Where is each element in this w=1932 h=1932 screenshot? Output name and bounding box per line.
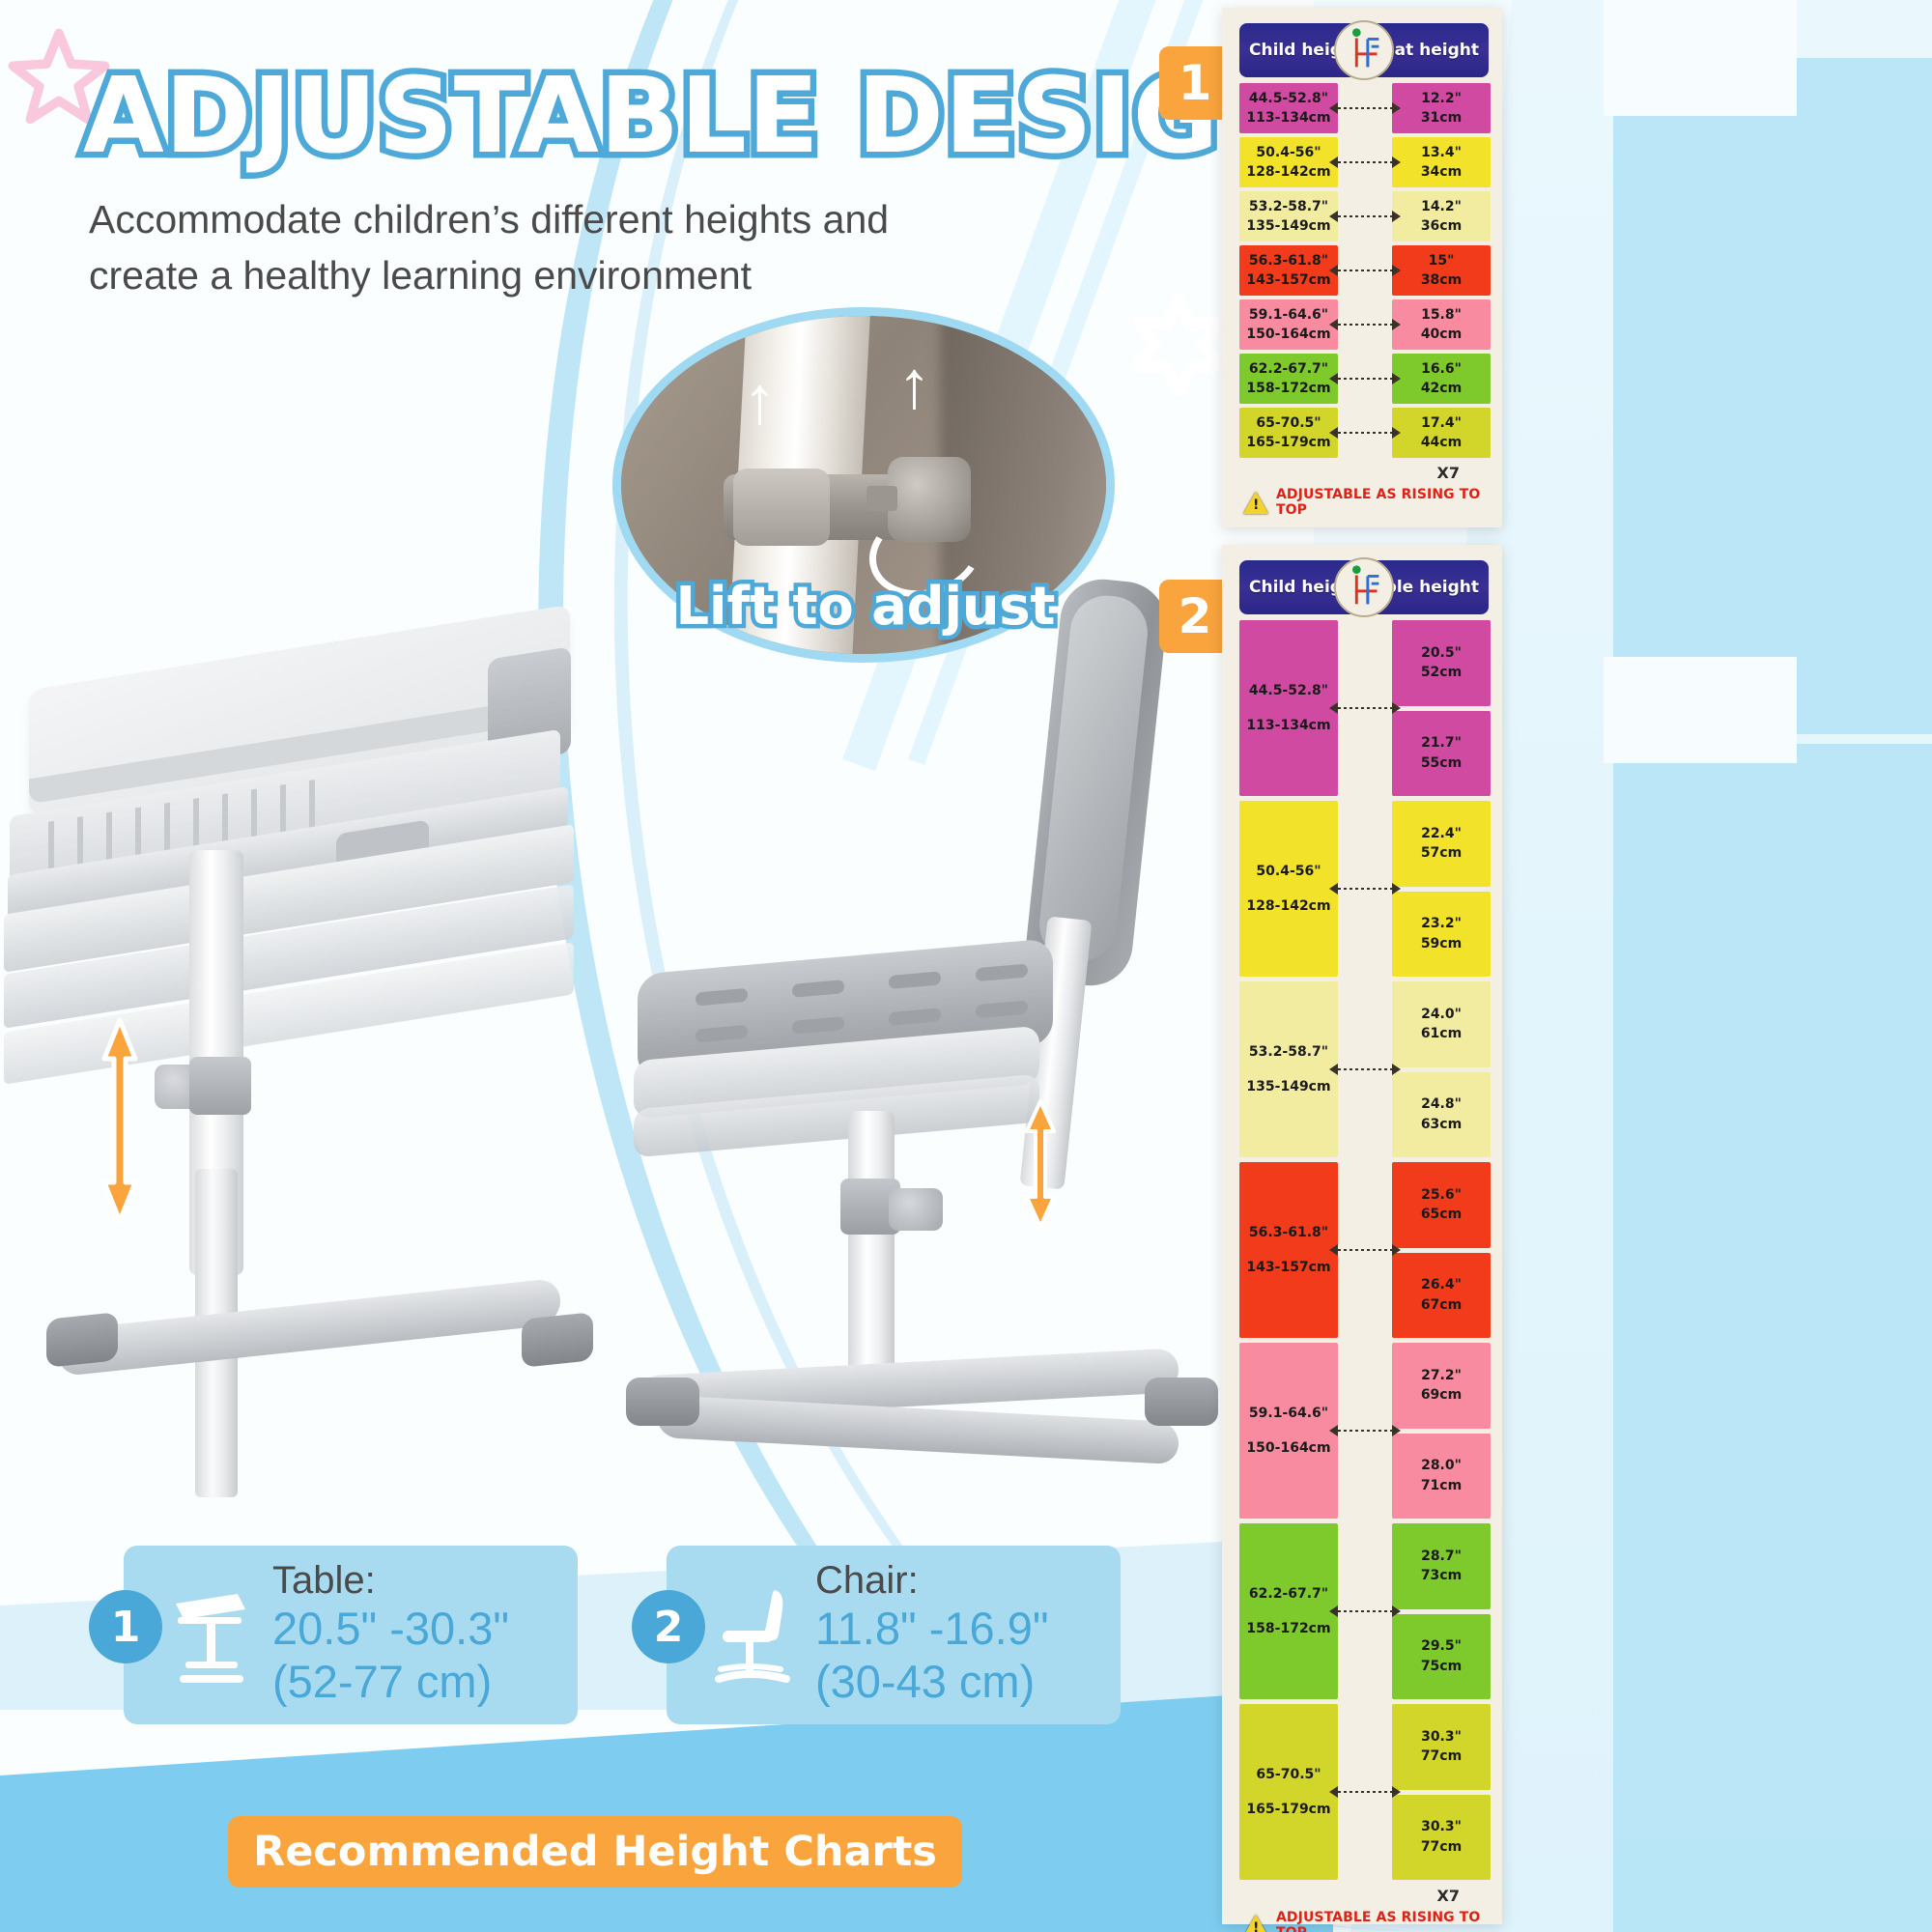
seat-height-cell: 15"38cm [1392, 245, 1491, 296]
seat-height-cm: 40cm [1421, 325, 1462, 344]
table-height-cell: 27.2"69cm [1392, 1343, 1491, 1429]
table-height-inches: 26.4" [1421, 1275, 1462, 1294]
child-height-cm: 165-179cm [1246, 1800, 1330, 1819]
child-height-inches: 44.5-52.8" [1249, 681, 1328, 700]
child-height-inches: 56.3-61.8" [1249, 1223, 1328, 1242]
seat-height-cm: 31cm [1421, 108, 1462, 128]
child-height-cm: 158-172cm [1246, 1619, 1330, 1638]
child-height-inches: 65-70.5" [1256, 1765, 1321, 1784]
table-value-cm: (52-77 cm) [272, 1655, 582, 1708]
seat-height-inches: 17.4" [1421, 413, 1462, 433]
seat-height-inches: 15" [1429, 251, 1455, 270]
table-height-cm: 77cm [1421, 1837, 1462, 1857]
table-height-inches: 22.4" [1421, 824, 1462, 843]
child-height-inches: 53.2-58.7" [1249, 197, 1328, 216]
table-chart-multiplier: X7 [1437, 1887, 1460, 1905]
child-height-cm: 128-142cm [1246, 162, 1330, 182]
dimension-arrow-icon [1338, 1523, 1392, 1699]
chair-value-inches: 11.8" -16.9" [815, 1602, 1124, 1655]
dimension-arrow-icon [1338, 299, 1392, 350]
child-height-cm: 143-157cm [1246, 1258, 1330, 1277]
child-height-inches: 62.2-67.7" [1249, 1584, 1328, 1604]
child-height-cm: 165-179cm [1246, 433, 1330, 452]
chair-icon [711, 1580, 800, 1689]
child-height-inches: 56.3-61.8" [1249, 251, 1328, 270]
dimension-arrow-icon [1338, 354, 1392, 404]
chair-illustration [618, 570, 1217, 1536]
seat-chart-multiplier: X7 [1437, 464, 1460, 482]
child-sitting-icon [1334, 557, 1394, 617]
seat-height-cm: 38cm [1421, 270, 1462, 290]
seat-height-cell: 13.4"34cm [1392, 137, 1491, 187]
child-height-cell: 62.2-67.7"158-172cm [1239, 354, 1338, 404]
seat-height-cm: 34cm [1421, 162, 1462, 182]
seat-height-cell: 16.6"42cm [1392, 354, 1491, 404]
table-row: 44.5-52.8"113-134cm20.5"52cm21.7"55cm [1239, 620, 1489, 796]
table-chart-warning: ADJUSTABLE AS RISING TO TOP [1243, 1910, 1492, 1932]
table-height-cell-group: 25.6"65cm26.4"67cm [1392, 1162, 1491, 1338]
seat-chart-header: Child height Seat height [1239, 23, 1489, 77]
seat-height-cell: 14.2"36cm [1392, 191, 1491, 241]
child-height-inches: 65-70.5" [1256, 413, 1321, 433]
table-height-cm: 67cm [1421, 1295, 1462, 1315]
table-height-inches: 30.3" [1421, 1817, 1462, 1836]
chair-spec-callout: 2 Chair: 11.8" -16.9" (30-43 cm) [667, 1546, 1121, 1724]
chair-label: Chair: [815, 1559, 1124, 1602]
child-height-cm: 135-149cm [1246, 1077, 1330, 1096]
child-height-cm: 158-172cm [1246, 379, 1330, 398]
seat-height-cell: 15.8"40cm [1392, 299, 1491, 350]
table-height-cell-group: 28.7"73cm29.5"75cm [1392, 1523, 1491, 1699]
table-row: 59.1-64.6"150-164cm27.2"69cm28.0"71cm [1239, 1343, 1489, 1519]
table-height-cell-group: 27.2"69cm28.0"71cm [1392, 1343, 1491, 1519]
seat-height-inches: 14.2" [1421, 197, 1462, 216]
child-sitting-icon [1334, 20, 1394, 80]
table-height-cell: 25.6"65cm [1392, 1162, 1491, 1248]
table-height-inches: 27.2" [1421, 1366, 1462, 1385]
table-height-inches: 28.0" [1421, 1456, 1462, 1475]
table-row: 65-70.5"165-179cm17.4"44cm [1239, 408, 1489, 458]
table-height-cell: 20.5"52cm [1392, 620, 1491, 706]
table-height-cell-group: 30.3"77cm30.3"77cm [1392, 1704, 1491, 1880]
child-height-cell: 44.5-52.8"113-134cm [1239, 83, 1338, 133]
table-row: 65-70.5"165-179cm30.3"77cm30.3"77cm [1239, 1704, 1489, 1880]
child-height-cm: 143-157cm [1246, 270, 1330, 290]
table-row: 44.5-52.8"113-134cm12.2"31cm [1239, 83, 1489, 133]
arrow-up-icon: ↑ [743, 366, 777, 434]
seat-chart-warning: ADJUSTABLE AS RISING TO TOP [1243, 487, 1492, 518]
seat-height-chart-card: Child height Seat height 44.5-52.8"113-1… [1222, 8, 1502, 527]
child-height-inches: 59.1-64.6" [1249, 1404, 1328, 1423]
table-height-cm: 61cm [1421, 1024, 1462, 1043]
warning-triangle-icon [1243, 492, 1268, 514]
table-row: 59.1-64.6"150-164cm15.8"40cm [1239, 299, 1489, 350]
seat-height-inches: 15.8" [1421, 305, 1462, 325]
dimension-arrow-icon [1338, 981, 1392, 1157]
table-value-inches: 20.5" -30.3" [272, 1602, 582, 1655]
child-height-cell: 65-70.5"165-179cm [1239, 408, 1338, 458]
child-height-cm: 150-164cm [1246, 325, 1330, 344]
dimension-arrow-icon [1338, 801, 1392, 977]
warning-triangle-icon [1243, 1915, 1268, 1932]
table-height-cm: 63cm [1421, 1115, 1462, 1134]
child-height-inches: 44.5-52.8" [1249, 89, 1328, 108]
table-height-cell: 30.3"77cm [1392, 1795, 1491, 1881]
seat-height-inches: 12.2" [1421, 89, 1462, 108]
desk-icon [168, 1580, 257, 1689]
table-height-cell: 24.0"61cm [1392, 981, 1491, 1067]
child-height-inches: 50.4-56" [1256, 143, 1321, 162]
seat-height-inches: 16.6" [1421, 359, 1462, 379]
arrow-up-icon: ↑ [897, 351, 931, 418]
seat-height-cell: 12.2"31cm [1392, 83, 1491, 133]
seat-height-cm: 42cm [1421, 379, 1462, 398]
dimension-arrow-icon [1338, 620, 1392, 796]
seat-height-cm: 36cm [1421, 216, 1462, 236]
dimension-arrow-icon [1338, 83, 1392, 133]
table-height-cm: 75cm [1421, 1657, 1462, 1676]
table-height-cm: 52cm [1421, 663, 1462, 682]
table-height-cell: 30.3"77cm [1392, 1704, 1491, 1790]
table-height-cm: 71cm [1421, 1476, 1462, 1495]
child-height-cell: 44.5-52.8"113-134cm [1239, 620, 1338, 796]
callout-badge-1: 1 [89, 1590, 162, 1663]
chart-number-tab-1: 1 [1159, 46, 1231, 120]
table-height-inches: 24.0" [1421, 1005, 1462, 1024]
child-height-cm: 150-164cm [1246, 1438, 1330, 1458]
table-height-inches: 21.7" [1421, 733, 1462, 753]
table-height-inches: 30.3" [1421, 1727, 1462, 1747]
seat-height-cm: 44cm [1421, 433, 1462, 452]
table-height-cell: 28.7"73cm [1392, 1523, 1491, 1609]
table-height-cell-group: 24.0"61cm24.8"63cm [1392, 981, 1491, 1157]
seat-height-inches: 13.4" [1421, 143, 1462, 162]
child-height-cell: 53.2-58.7"135-149cm [1239, 981, 1338, 1157]
table-height-cell: 28.0"71cm [1392, 1434, 1491, 1520]
table-row: 56.3-61.8"143-157cm25.6"65cm26.4"67cm [1239, 1162, 1489, 1338]
recommended-height-charts-ribbon: Recommended Height Charts [228, 1816, 962, 1888]
table-height-cm: 65cm [1421, 1205, 1462, 1224]
child-height-inches: 59.1-64.6" [1249, 305, 1328, 325]
dimension-arrow-icon [1338, 191, 1392, 241]
up-down-arrow-icon [1024, 1096, 1057, 1232]
child-height-cell: 50.4-56"128-142cm [1239, 801, 1338, 977]
dimension-arrow-icon [1338, 1343, 1392, 1519]
chart-number-tab-2: 2 [1159, 580, 1231, 653]
table-height-cm: 59cm [1421, 934, 1462, 953]
child-height-cell: 62.2-67.7"158-172cm [1239, 1523, 1338, 1699]
table-height-cm: 77cm [1421, 1747, 1462, 1766]
table-row: 50.4-56"128-142cm13.4"34cm [1239, 137, 1489, 187]
child-height-cell: 56.3-61.8"143-157cm [1239, 1162, 1338, 1338]
table-height-cell-group: 20.5"52cm21.7"55cm [1392, 620, 1491, 796]
child-height-cell: 59.1-64.6"150-164cm [1239, 299, 1338, 350]
child-height-cm: 113-134cm [1246, 108, 1330, 128]
table-height-inches: 25.6" [1421, 1185, 1462, 1205]
table-row: 56.3-61.8"143-157cm15"38cm [1239, 245, 1489, 296]
table-spec-callout: 1 Table: 20.5" -30.3" (52-77 cm) [124, 1546, 578, 1724]
callout-badge-2: 2 [632, 1590, 705, 1663]
table-height-inches: 24.8" [1421, 1094, 1462, 1114]
child-height-inches: 53.2-58.7" [1249, 1042, 1328, 1062]
table-row: 50.4-56"128-142cm22.4"57cm23.2"59cm [1239, 801, 1489, 977]
table-height-cm: 55cm [1421, 753, 1462, 773]
table-height-cell: 21.7"55cm [1392, 711, 1491, 797]
table-label: Table: [272, 1559, 582, 1602]
child-height-cell: 56.3-61.8"143-157cm [1239, 245, 1338, 296]
child-height-cm: 128-142cm [1246, 896, 1330, 916]
adjust-knob-icon [889, 1188, 943, 1231]
table-row: 62.2-67.7"158-172cm16.6"42cm [1239, 354, 1489, 404]
table-height-cell-group: 22.4"57cm23.2"59cm [1392, 801, 1491, 977]
desk-illustration [0, 628, 618, 1478]
flower-icon [1125, 290, 1232, 396]
table-height-cell: 23.2"59cm [1392, 892, 1491, 978]
seat-height-cell: 17.4"44cm [1392, 408, 1491, 458]
seat-chart-warning-text: ADJUSTABLE AS RISING TO TOP [1276, 487, 1492, 518]
chair-value-cm: (30-43 cm) [815, 1655, 1124, 1708]
table-height-cell: 22.4"57cm [1392, 801, 1491, 887]
dimension-arrow-icon [1338, 245, 1392, 296]
table-chart-rows: 44.5-52.8"113-134cm20.5"52cm21.7"55cm50.… [1239, 620, 1489, 1880]
table-row: 53.2-58.7"135-149cm14.2"36cm [1239, 191, 1489, 241]
table-height-cell: 29.5"75cm [1392, 1614, 1491, 1700]
table-row: 62.2-67.7"158-172cm28.7"73cm29.5"75cm [1239, 1523, 1489, 1699]
child-height-inches: 62.2-67.7" [1249, 359, 1328, 379]
table-height-cell: 24.8"63cm [1392, 1072, 1491, 1158]
child-height-cell: 65-70.5"165-179cm [1239, 1704, 1338, 1880]
dimension-arrow-icon [1338, 137, 1392, 187]
child-height-inches: 50.4-56" [1256, 862, 1321, 881]
page-title: ADJUSTABLE DESIGN [83, 56, 1308, 177]
page-subtitle: Accommodate children’s different heights… [89, 191, 987, 303]
table-height-chart-card: Child height Table height 44.5-52.8"113-… [1222, 545, 1502, 1924]
table-height-cm: 57cm [1421, 843, 1462, 863]
child-height-cell: 53.2-58.7"135-149cm [1239, 191, 1338, 241]
seat-chart-rows: 44.5-52.8"113-134cm12.2"31cm50.4-56"128-… [1239, 83, 1489, 458]
table-height-cell: 26.4"67cm [1392, 1253, 1491, 1339]
child-height-cm: 113-134cm [1246, 716, 1330, 735]
table-height-cm: 73cm [1421, 1566, 1462, 1585]
child-height-cell: 59.1-64.6"150-164cm [1239, 1343, 1338, 1519]
table-height-inches: 28.7" [1421, 1547, 1462, 1566]
dimension-arrow-icon [1338, 1162, 1392, 1338]
dimension-arrow-icon [1338, 408, 1392, 458]
table-height-cm: 69cm [1421, 1385, 1462, 1405]
child-height-cm: 135-149cm [1246, 216, 1330, 236]
child-height-cell: 50.4-56"128-142cm [1239, 137, 1338, 187]
up-down-arrow-icon [100, 1014, 139, 1227]
table-row: 53.2-58.7"135-149cm24.0"61cm24.8"63cm [1239, 981, 1489, 1157]
table-height-inches: 23.2" [1421, 914, 1462, 933]
table-height-inches: 20.5" [1421, 643, 1462, 663]
table-chart-header: Child height Table height [1239, 560, 1489, 614]
table-height-inches: 29.5" [1421, 1636, 1462, 1656]
dimension-arrow-icon [1338, 1704, 1392, 1880]
table-chart-warning-text: ADJUSTABLE AS RISING TO TOP [1276, 1910, 1492, 1932]
